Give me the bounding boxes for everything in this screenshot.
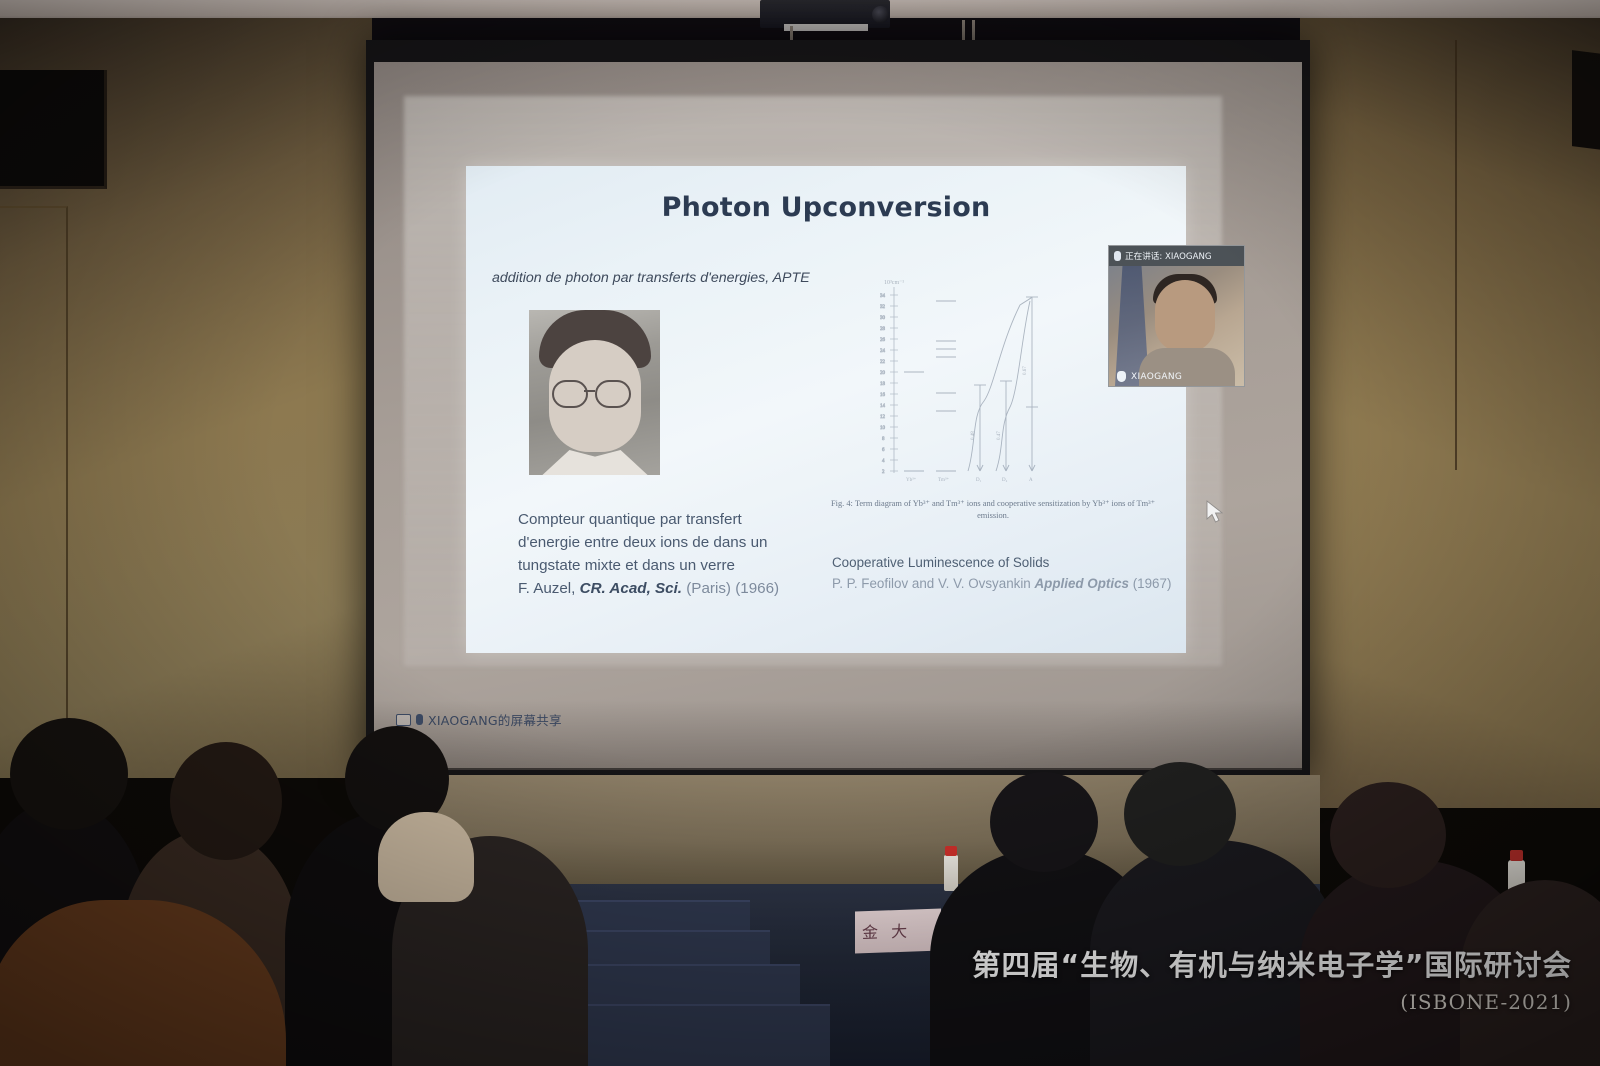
svg-text:D₁: D₁ <box>976 478 982 483</box>
placard-text: 金 大 <box>862 918 911 944</box>
microphone-icon <box>1117 371 1126 382</box>
slide-title: Photon Upconversion <box>466 192 1186 223</box>
door-frame-left <box>0 206 68 768</box>
glasses-lens-left-icon <box>552 380 588 408</box>
svg-text:10³cm⁻¹: 10³cm⁻¹ <box>884 280 904 286</box>
caption-right-reference: P. P. Feofilov and V. V. Ovsyankin Appli… <box>832 573 1182 594</box>
mouse-pointer-icon <box>1206 500 1226 526</box>
portrait-photo <box>529 310 660 475</box>
svg-text:20: 20 <box>880 371 886 376</box>
wall-seam-right <box>1455 40 1457 470</box>
svg-text:8: 8 <box>882 437 885 442</box>
audience-head <box>1124 762 1236 866</box>
caption-line-1: Compteur quantique par transfert <box>518 508 810 531</box>
portrait-collar <box>537 450 653 475</box>
svg-text:0.48: 0.48 <box>971 431 976 440</box>
svg-text:22: 22 <box>880 360 886 365</box>
wall-speaker-right <box>1572 50 1600 150</box>
screen-share-banner: XIAOGANG的屏幕共享 <box>396 710 562 729</box>
svg-text:0.47: 0.47 <box>997 431 1002 440</box>
svg-text:12: 12 <box>880 415 886 420</box>
wall-speaker-left <box>0 70 107 189</box>
screen-share-label: XIAOGANG的屏幕共享 <box>428 710 562 729</box>
svg-text:28: 28 <box>880 327 886 332</box>
name-placard: 金 大 <box>855 908 941 953</box>
zoom-video-thumbnail[interactable]: 正在讲话: XIAOGANG XIAOGANG <box>1108 245 1245 387</box>
svg-text:Yb³⁺: Yb³⁺ <box>906 477 917 483</box>
svg-text:16: 16 <box>880 393 886 398</box>
svg-text:18: 18 <box>880 382 886 387</box>
term-diagram: 10³cm⁻¹ 34 32 30 28 26 24 22 20 18 16 14… <box>880 275 1060 485</box>
conference-title-overlay: 第四届“生物、有机与纳米电子学”国际研讨会 (ISBONE-2021) <box>972 943 1572 1014</box>
slide-caption-right: Cooperative Luminescence of Solids P. P.… <box>832 552 1182 594</box>
caption-author: F. Auzel, <box>518 580 580 597</box>
screen-share-icon <box>396 714 411 726</box>
slide-subtitle: addition de photon par transferts d'ener… <box>492 270 942 286</box>
audience-head <box>170 742 282 860</box>
caption-right-journal: Applied Optics <box>1034 576 1129 591</box>
svg-text:10: 10 <box>880 426 886 431</box>
svg-text:0.67: 0.67 <box>1023 366 1028 375</box>
svg-text:4: 4 <box>882 459 885 464</box>
glasses-lens-right-icon <box>595 380 631 408</box>
svg-text:2: 2 <box>882 470 885 475</box>
caption-line-2: d'energie entre deux ions de dans un <box>518 531 810 554</box>
svg-text:14: 14 <box>880 404 886 409</box>
svg-text:D₂: D₂ <box>1002 478 1008 483</box>
svg-text:6: 6 <box>882 448 885 453</box>
speaking-indicator-bar: 正在讲话: XIAOGANG <box>1109 246 1244 266</box>
slide-caption-left: Compteur quantique par transfert d'energ… <box>518 508 810 600</box>
svg-text:Tm³⁺: Tm³⁺ <box>938 477 949 483</box>
svg-text:30: 30 <box>880 316 886 321</box>
caption-place-year: (Paris) (1966) <box>682 580 779 597</box>
video-speaker-face <box>1155 280 1215 352</box>
caption-right-authors: P. P. Feofilov and V. V. Ovsyankin <box>832 576 1034 591</box>
svg-text:A: A <box>1029 478 1033 483</box>
audience-head <box>1330 782 1446 888</box>
speaking-label: 正在讲话: XIAOGANG <box>1125 250 1212 262</box>
caption-journal: CR. Acad, Sci. <box>580 580 682 597</box>
svg-text:24: 24 <box>880 349 886 354</box>
projector-lens-icon <box>872 6 889 23</box>
video-feed <box>1109 266 1244 386</box>
audience-head <box>378 812 474 902</box>
right-wall <box>1300 18 1600 808</box>
microphone-icon <box>416 714 423 725</box>
svg-text:26: 26 <box>880 338 886 343</box>
figure-caption-label: Fig. 4: <box>831 499 853 508</box>
svg-text:34: 34 <box>880 294 886 299</box>
conference-subtitle: (ISBONE-2021) <box>972 990 1572 1014</box>
caption-line-3: tungstate mixte et dans un verre <box>518 554 810 577</box>
projector-mount <box>784 24 868 31</box>
caption-reference: F. Auzel, CR. Acad, Sci. (Paris) (1966) <box>518 577 810 600</box>
svg-text:32: 32 <box>880 305 886 310</box>
term-diagram-svg: 10³cm⁻¹ 34 32 30 28 26 24 22 20 18 16 14… <box>880 275 1060 485</box>
participant-name-bar: XIAOGANG <box>1109 371 1244 382</box>
glasses-bridge-icon <box>584 390 595 392</box>
figure-caption: Fig. 4: Term diagram of Yb³⁺ and Tm³⁺ io… <box>818 498 1168 522</box>
audience-head <box>990 772 1098 872</box>
bottle-cap <box>945 846 957 856</box>
participant-name: XIAOGANG <box>1131 372 1182 382</box>
conference-title: 第四届“生物、有机与纳米电子学”国际研讨会 <box>972 943 1572 984</box>
microphone-icon <box>1114 251 1121 261</box>
caption-right-year: (1967) <box>1129 576 1171 591</box>
bottle-cap <box>1510 850 1523 861</box>
caption-right-heading: Cooperative Luminescence of Solids <box>832 552 1182 573</box>
conference-hall-photo: Photon Upconversion addition de photon p… <box>0 0 1600 1066</box>
figure-caption-text: Term diagram of Yb³⁺ and Tm³⁺ ions and c… <box>855 499 1155 520</box>
audience-head <box>10 718 128 830</box>
water-bottle <box>944 855 958 891</box>
